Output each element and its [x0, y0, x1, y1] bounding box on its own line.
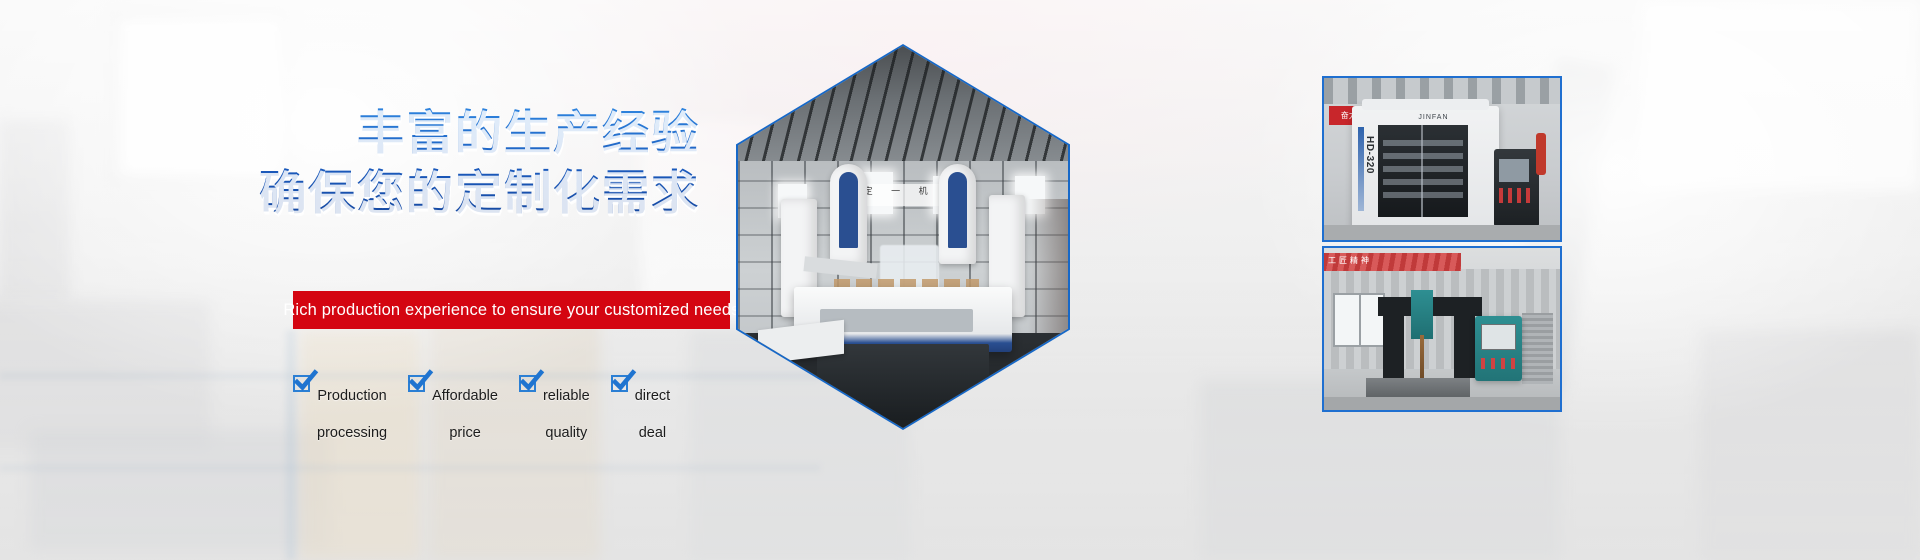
thumb1-machine-top [1362, 99, 1489, 110]
feature-label-line-1: Affordable [432, 388, 498, 404]
thumbnail-horizontal-machining-center[interactable]: 奋力 HD-320 JINFAN [1322, 76, 1562, 242]
checkbox-checked-icon[interactable] [519, 375, 536, 392]
copy-block: 丰富的生产经验 确保您的定制化需求 Rich production experi… [0, 0, 760, 560]
thumbnail-1-scene: 奋力 HD-320 JINFAN [1324, 78, 1560, 240]
subtitle-bar: Rich production experience to ensure you… [293, 291, 730, 329]
machine-base [817, 344, 989, 420]
feature-list: Production processing Affordable price [293, 368, 763, 422]
hexagon-photo-clip: 定 一 机 [738, 46, 1068, 428]
subtitle-text: Rich production experience to ensure you… [283, 301, 739, 320]
thumb2-panel-screen [1481, 324, 1516, 350]
checkbox-checked-icon[interactable] [293, 375, 310, 392]
feature-label: reliable quality [543, 368, 590, 442]
thumb2-electrical-cabinet [1522, 313, 1553, 384]
thumb1-brand-text: JINFAN [1418, 114, 1448, 121]
feature-label-line-2: processing [317, 425, 387, 441]
thumbnail-2-scene: 工匠精神 [1324, 248, 1560, 410]
thumb2-machine-table [1366, 378, 1470, 399]
feature-label-line-2: price [449, 425, 480, 441]
feature-label-line-1: reliable [543, 388, 590, 404]
feature-item-direct-deal[interactable]: direct deal [611, 368, 670, 442]
thumb1-door-glass [1383, 133, 1463, 198]
thumb2-floor [1324, 397, 1560, 410]
thumb2-panel-buttons [1481, 358, 1516, 369]
scene-roof [738, 46, 1068, 176]
headline: 丰富的生产经验 确保您的定制化需求 [0, 104, 700, 224]
thumb2-red-banner: 工匠精神 [1324, 253, 1461, 271]
headline-line-2: 确保您的定制化需求 [0, 164, 700, 224]
feature-label: direct deal [635, 368, 670, 442]
feature-label: Production processing [317, 368, 387, 442]
thumbnail-gantry-milling-machine[interactable]: 工匠精神 [1322, 246, 1562, 412]
feature-label-line-2: quality [545, 425, 587, 441]
checkbox-checked-icon[interactable] [611, 375, 628, 392]
headline-line-1: 丰富的生产经验 [357, 106, 700, 161]
thumb2-spindle-quill [1420, 335, 1425, 380]
thumb2-spindle-head [1411, 290, 1432, 339]
machine-blue-panel [839, 172, 859, 248]
feature-item-production-processing[interactable]: Production processing [293, 368, 387, 442]
thumb1-red-accent [1536, 133, 1545, 175]
machine-blue-panel [948, 172, 968, 248]
feature-item-affordable-price[interactable]: Affordable price [408, 368, 498, 442]
feature-label-line-1: direct [635, 388, 670, 404]
feature-label: Affordable price [432, 368, 498, 442]
feature-label-line-1: Production [317, 388, 386, 404]
thumb2-column-right [1454, 313, 1475, 378]
feature-label-line-2: deal [639, 425, 666, 441]
checkbox-checked-icon[interactable] [408, 375, 425, 392]
thumb1-model-label: HD-320 [1364, 136, 1375, 174]
feature-item-reliable-quality[interactable]: reliable quality [519, 368, 590, 442]
factory-scene: 定 一 机 [738, 46, 1068, 428]
thumb1-control-screen [1499, 159, 1530, 182]
hero-hexagon-image[interactable]: 定 一 机 [736, 44, 1070, 430]
thumb2-column-left [1383, 313, 1404, 378]
thumb1-floor [1324, 225, 1560, 240]
promo-banner: 丰富的生产经验 确保您的定制化需求 Rich production experi… [0, 0, 1920, 560]
thumb1-control-buttons [1499, 188, 1532, 203]
